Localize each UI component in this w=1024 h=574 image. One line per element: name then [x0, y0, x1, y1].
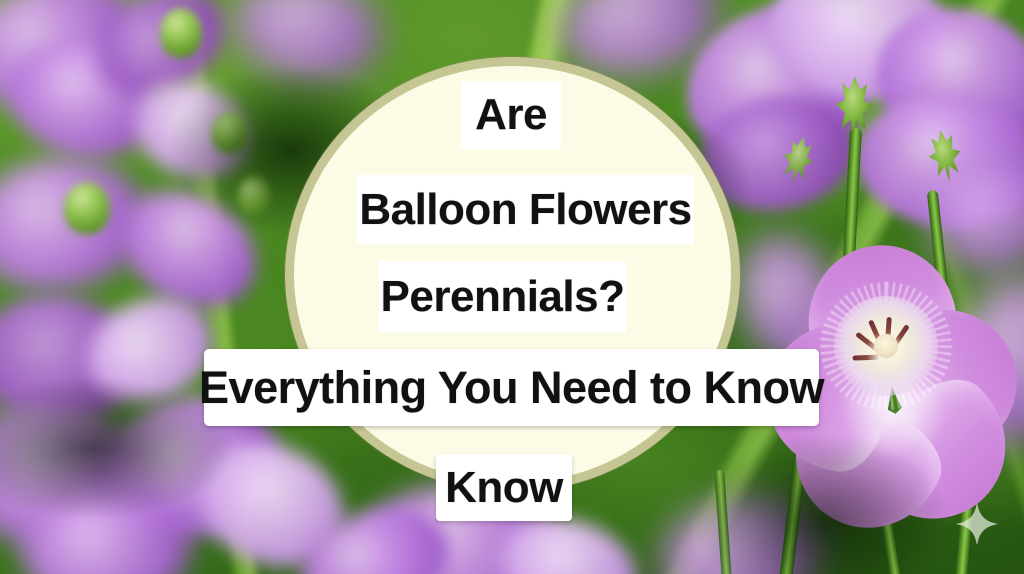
title-line-balloon-flowers: Balloon Flowers: [357, 175, 694, 244]
title-line-perennials: Perennials?: [379, 261, 626, 332]
title-line-know: Know: [436, 454, 572, 521]
pin-canvas: Are Balloon Flowers Perennials? Everythi…: [0, 0, 1024, 574]
sparkle-icon: [956, 502, 998, 546]
title-line-everything-you-need-to-know: Everything You Need to Know: [204, 349, 819, 426]
title-line-are: Are: [461, 81, 561, 149]
